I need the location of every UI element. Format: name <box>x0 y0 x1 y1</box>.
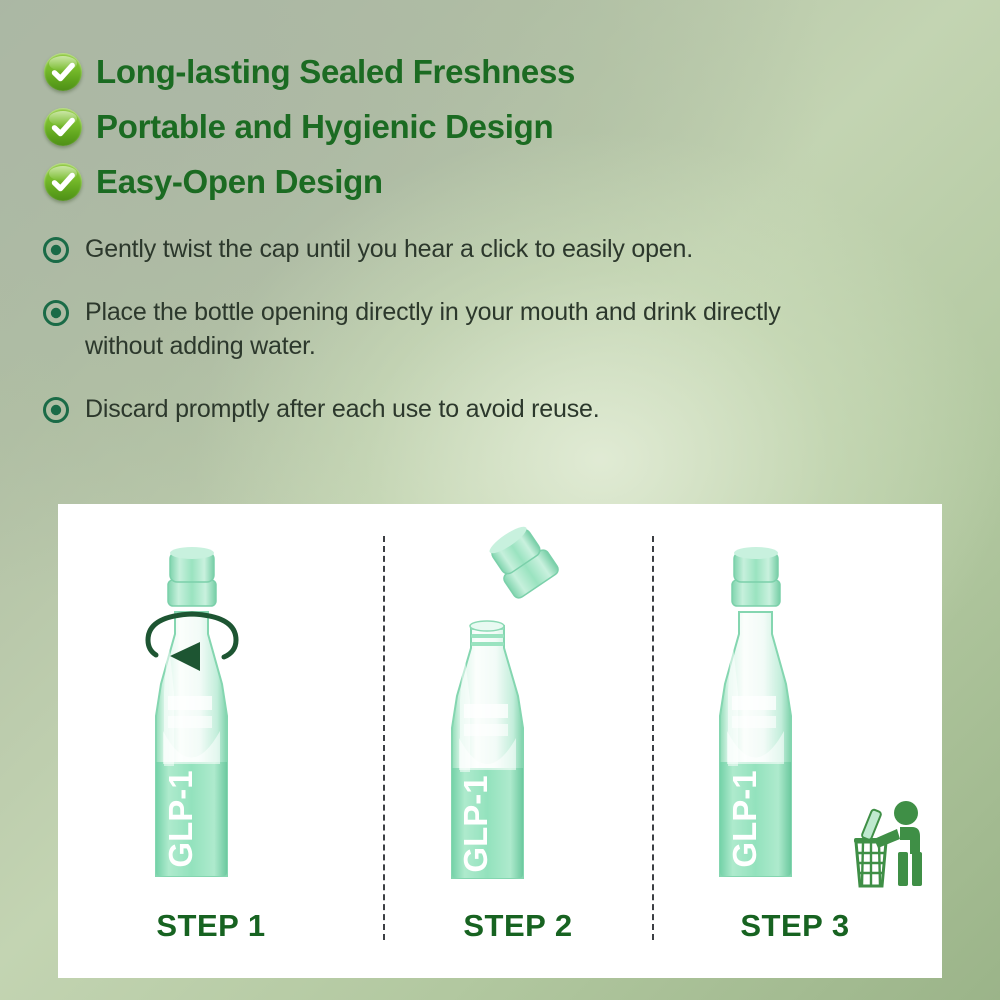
step-label: STEP 1 <box>64 908 358 944</box>
step-column-1: GLP-1 STEP 1 <box>64 504 358 978</box>
feature-label: Portable and Hygienic Design <box>96 110 553 143</box>
target-ring-icon <box>42 299 70 327</box>
target-ring-icon <box>42 236 70 264</box>
bottle-illustration-step-1: GLP-1 <box>64 516 358 896</box>
feature-item: Long-lasting Sealed Freshness <box>44 44 924 99</box>
check-circle-icon <box>44 108 82 146</box>
feature-item: Portable and Hygienic Design <box>44 99 924 154</box>
check-circle-icon <box>44 53 82 91</box>
instruction-list: Gently twist the cap until you hear a cl… <box>42 232 842 454</box>
feature-list: Long-lasting Sealed Freshness Portable a… <box>44 44 924 209</box>
infographic-page: Long-lasting Sealed Freshness Portable a… <box>0 0 1000 1000</box>
instruction-text: Place the bottle opening directly in you… <box>85 295 842 364</box>
instruction-item: Gently twist the cap until you hear a cl… <box>42 232 842 267</box>
check-circle-icon <box>44 163 82 201</box>
bottle-illustration-step-2: GLP-1 <box>371 516 665 896</box>
instruction-item: Place the bottle opening directly in you… <box>42 295 842 364</box>
product-label: GLP-1 <box>162 770 199 867</box>
step-column-3: GLP-1 <box>648 504 942 978</box>
feature-label: Easy-Open Design <box>96 165 383 198</box>
feature-label: Long-lasting Sealed Freshness <box>96 55 575 88</box>
feature-item: Easy-Open Design <box>44 154 924 209</box>
step-label: STEP 2 <box>371 908 665 944</box>
target-ring-icon <box>42 396 70 424</box>
product-label: GLP-1 <box>457 775 494 872</box>
instruction-item: Discard promptly after each use to avoid… <box>42 392 842 427</box>
trash-disposal-icon <box>850 796 936 888</box>
product-label: GLP-1 <box>726 770 763 867</box>
step-label: STEP 3 <box>648 908 942 944</box>
step-column-2: GLP-1 STEP 2 <box>371 504 665 978</box>
steps-card: GLP-1 STEP 1 <box>58 504 942 978</box>
instruction-text: Discard promptly after each use to avoid… <box>85 392 599 427</box>
instruction-text: Gently twist the cap until you hear a cl… <box>85 232 693 267</box>
